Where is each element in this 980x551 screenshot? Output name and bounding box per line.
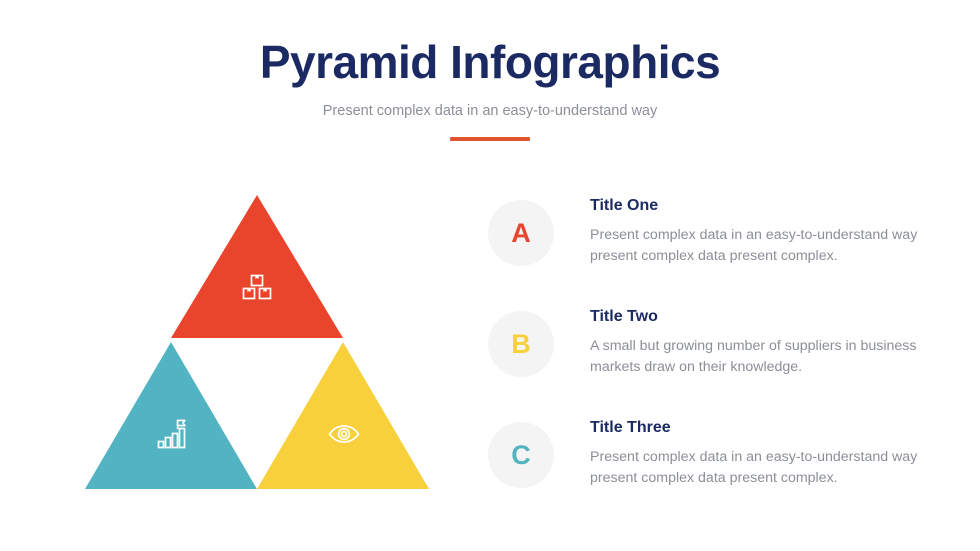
list-item-badge-c: C: [488, 422, 554, 488]
list-item[interactable]: A Title One Present complex data in an e…: [488, 196, 948, 307]
content-list: A Title One Present complex data in an e…: [488, 196, 948, 529]
stacked-boxes-icon: [240, 271, 274, 305]
list-item[interactable]: C Title Three Present complex data in an…: [488, 418, 948, 529]
list-item-body: Title One Present complex data in an eas…: [590, 196, 940, 267]
eye-icon: [327, 417, 361, 451]
list-item-title: Title One: [590, 196, 940, 215]
list-item[interactable]: B Title Two A small but growing number o…: [488, 307, 948, 418]
badge-letter: C: [511, 440, 531, 471]
list-item-description: Present complex data in an easy-to-under…: [590, 225, 940, 267]
list-item-badge-b: B: [488, 311, 554, 377]
page-subtitle: Present complex data in an easy-to-under…: [0, 102, 980, 121]
list-item-body: Title Two A small but growing number of …: [590, 307, 940, 378]
pyramid-segment-bottom-right[interactable]: [257, 342, 429, 489]
pyramid-segment-top[interactable]: [171, 195, 343, 338]
slide-header: Pyramid Infographics Present complex dat…: [0, 38, 980, 141]
infographic-slide: Pyramid Infographics Present complex dat…: [0, 0, 980, 551]
list-item-title: Title Two: [590, 307, 940, 326]
list-item-description: A small but growing number of suppliers …: [590, 336, 940, 378]
title-divider: [450, 137, 530, 141]
list-item-badge-a: A: [488, 200, 554, 266]
list-item-title: Title Three: [590, 418, 940, 437]
pyramid-segment-bottom-left[interactable]: [85, 342, 257, 489]
badge-letter: B: [511, 329, 531, 360]
list-item-body: Title Three Present complex data in an e…: [590, 418, 940, 489]
list-item-description: Present complex data in an easy-to-under…: [590, 447, 940, 489]
page-title: Pyramid Infographics: [0, 38, 980, 88]
pyramid-diagram: [85, 195, 429, 489]
badge-letter: A: [511, 218, 531, 249]
growth-bar-chart-flag-icon: [155, 417, 189, 451]
